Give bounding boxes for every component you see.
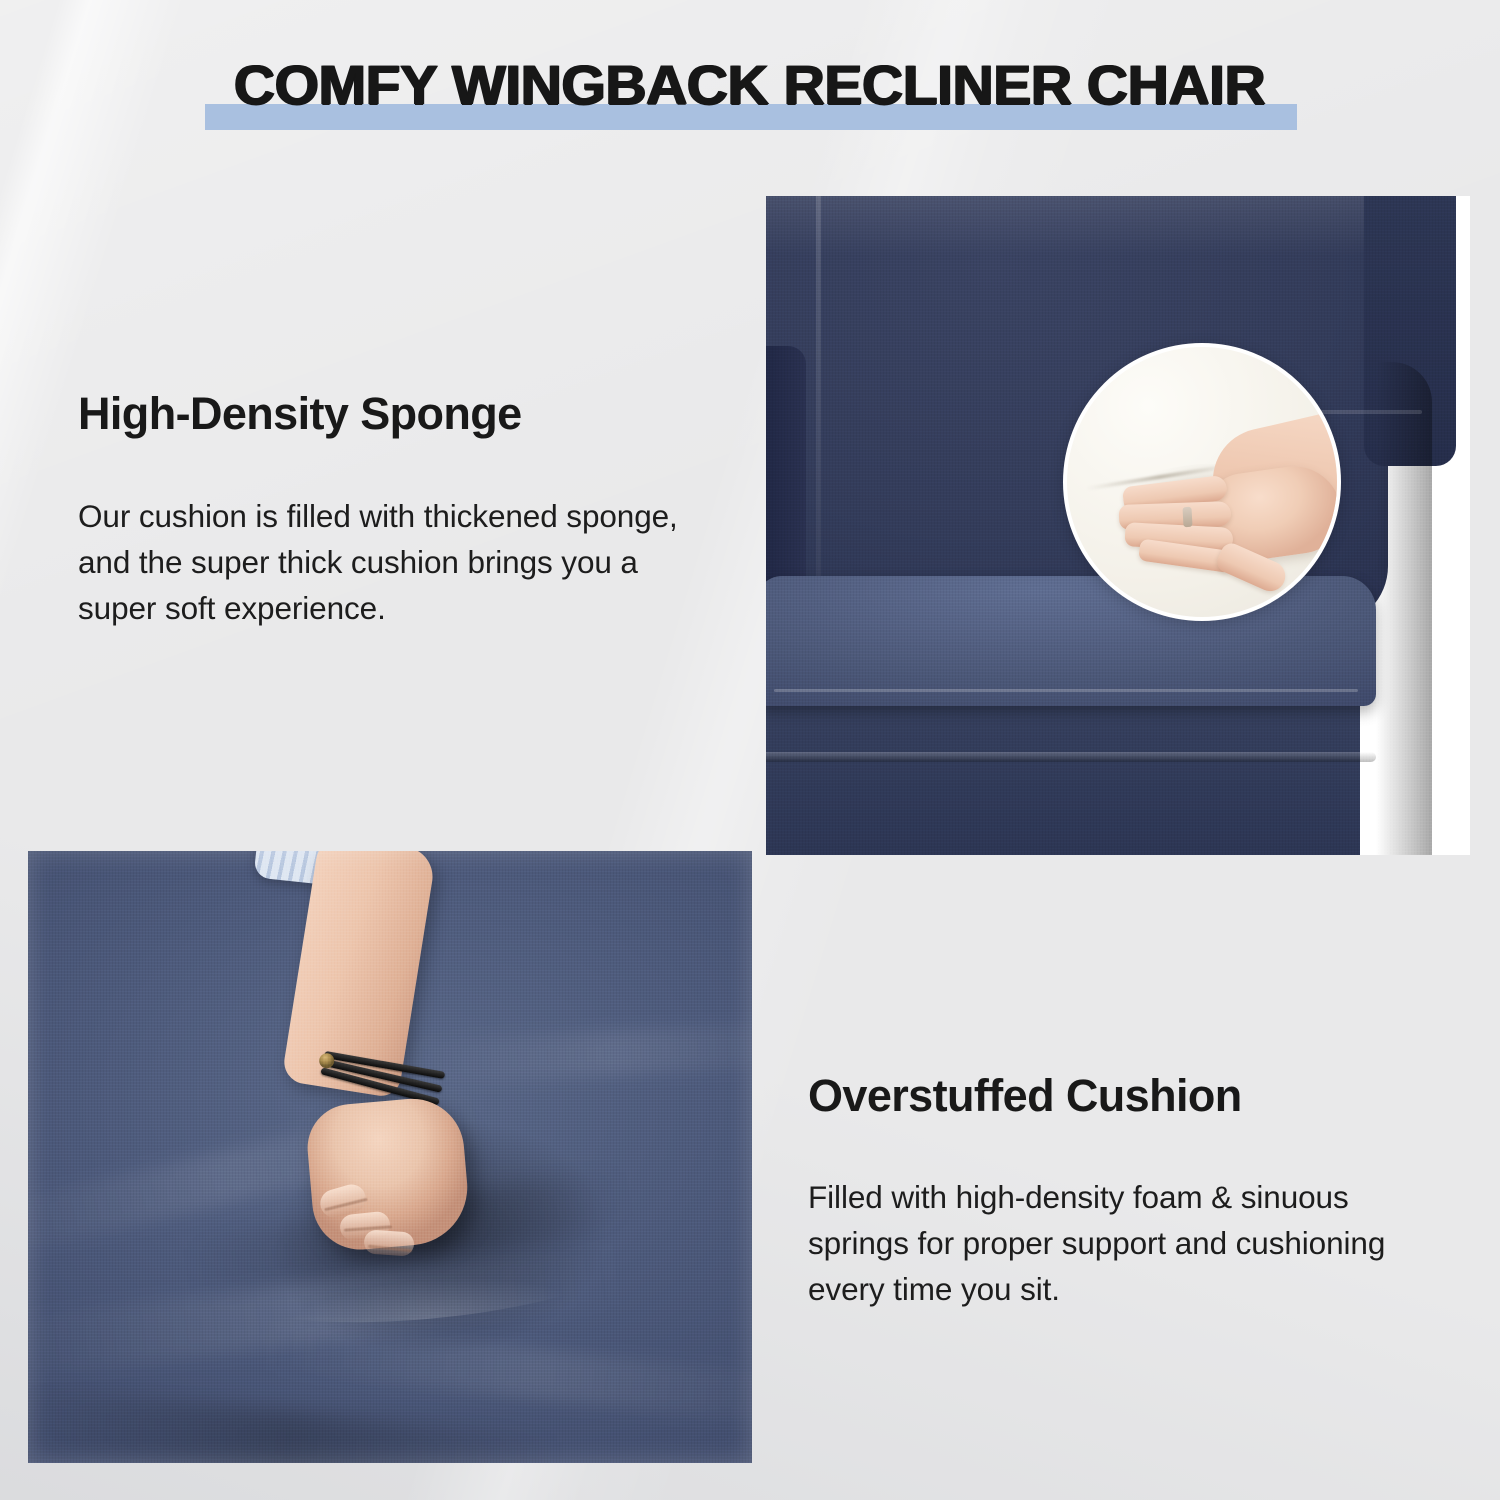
cushion-fold [407,1020,752,1086]
feature-heading: Overstuffed Cushion [808,1070,1428,1122]
finger-ring [1182,507,1192,527]
cushion-photo [28,851,752,1463]
infographic-page: COMFY WINGBACK RECLINER CHAIR [0,0,1500,1500]
page-title-text: COMFY WINGBACK RECLINER CHAIR [234,52,1265,117]
feature-body: Filled with high-density foam & sinuous … [808,1174,1428,1312]
feature-body: Our cushion is filled with thickened spo… [78,493,718,631]
chair-photo [766,196,1470,855]
fist-knuckle [363,1229,415,1256]
feature-block-high-density-sponge: High-Density Sponge Our cushion is fille… [78,388,718,631]
feature-block-overstuffed-cushion: Overstuffed Cushion Filled with high-den… [808,1070,1428,1312]
page-title: COMFY WINGBACK RECLINER CHAIR [0,52,1500,117]
feature-heading: High-Density Sponge [78,388,718,440]
foam-closeup-inset [1063,343,1341,621]
cushion-shadow-band [28,1387,570,1463]
